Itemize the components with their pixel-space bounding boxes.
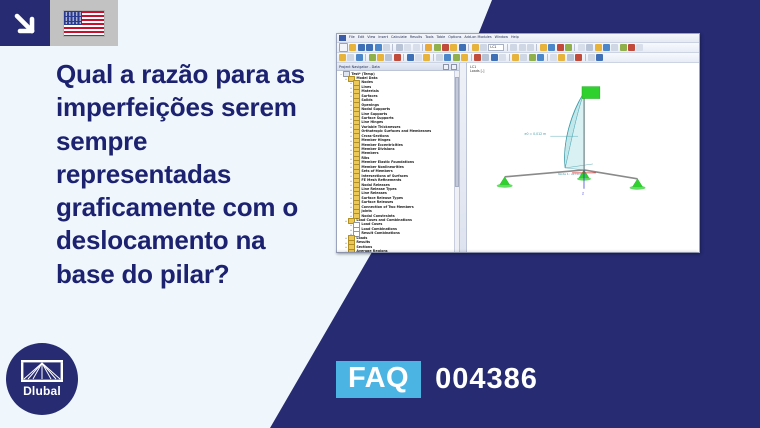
toolbar-snap-icon[interactable]	[480, 44, 487, 51]
toolbar-errors-icon[interactable]	[557, 44, 564, 51]
toolbar2-icon-7[interactable]	[394, 54, 401, 61]
toolbar2-icon-4[interactable]	[369, 54, 376, 61]
toolbar2-icon-22[interactable]	[537, 54, 544, 61]
menu-bar[interactable]: File Edit View Insert Calculate Results …	[337, 34, 699, 43]
toolbar2-icon-23[interactable]	[550, 54, 557, 61]
menu-item-window[interactable]: Window	[495, 36, 508, 39]
toolbar2-icon-2[interactable]	[347, 54, 354, 61]
toolbar2-icon-20[interactable]	[520, 54, 527, 61]
navigator-close-icon[interactable]	[451, 64, 457, 70]
brand-name: Dlubal	[23, 384, 61, 398]
faq-footer: FAQ 004386	[336, 361, 538, 398]
rfem-application-window[interactable]: File Edit View Insert Calculate Results …	[336, 33, 700, 253]
tree-item-list[interactable]: +Model Data+Nodes+Lines+Materials+Surfac…	[338, 76, 459, 253]
toolbar-misc5-icon[interactable]	[611, 44, 618, 51]
tree-item-label: FE Mesh Refinements	[361, 179, 401, 182]
toolbar-view-icon[interactable]	[510, 44, 517, 51]
tree-item-label: Results	[356, 241, 370, 244]
load-case-value: LC1	[489, 45, 503, 50]
toolbar-preview-icon[interactable]	[383, 44, 390, 51]
tree-item-label: Solids	[361, 99, 372, 102]
nodal-support-left	[497, 177, 513, 188]
imperfection-label: e0 = 0.012 m	[525, 132, 547, 136]
load-case-field[interactable]: LC1	[488, 44, 504, 51]
toolbar2-icon-13[interactable]	[453, 54, 460, 61]
toolbar2-icon-14[interactable]	[461, 54, 468, 61]
toolbar-cut-icon[interactable]	[396, 44, 403, 51]
toolbar-calc-icon[interactable]	[540, 44, 547, 51]
toolbar-misc6-icon[interactable]	[620, 44, 627, 51]
toolbar-misc8-icon[interactable]	[636, 44, 643, 51]
navigator-title: Project Navigator - Data	[339, 65, 380, 69]
menu-item-tools[interactable]: Tools	[425, 36, 433, 39]
app-icon	[339, 35, 346, 41]
toolbar-new-icon[interactable]	[339, 43, 348, 52]
toolbar2-icon-24[interactable]	[558, 54, 565, 61]
navigator-scrollbar-thumb[interactable]	[455, 77, 459, 187]
expand-tab[interactable]	[0, 0, 50, 46]
toolbar-results-icon[interactable]	[548, 44, 555, 51]
toolbar-zoom-icon[interactable]	[459, 44, 466, 51]
toolbar-pan-icon[interactable]	[519, 44, 526, 51]
toolbar2-icon-16[interactable]	[482, 54, 489, 61]
toolbar2-icon-9[interactable]	[415, 54, 422, 61]
toolbar2-icon-18[interactable]	[499, 54, 506, 61]
toolbar2-icon-19[interactable]	[512, 54, 519, 61]
toolbar-open-icon[interactable]	[349, 44, 356, 51]
toolbar2-icon-3[interactable]	[356, 54, 363, 61]
toolbar-copy-icon[interactable]	[404, 44, 411, 51]
menu-item-file[interactable]: File	[349, 36, 355, 39]
tree-item-label: Result Combinations	[361, 232, 399, 235]
tree-item-label: Member Hinges	[361, 139, 390, 142]
toolbar-print-icon[interactable]	[375, 44, 382, 51]
structural-model-graphic: e0 = 0.012 m Node 1: ux=0.000	[467, 63, 699, 253]
navigator-scrollbar[interactable]	[454, 71, 459, 253]
toolbar2-icon-11[interactable]	[436, 54, 443, 61]
navigator-title-buttons[interactable]	[443, 64, 457, 70]
toolbar2-icon-8[interactable]	[407, 54, 414, 61]
toolbar-render-icon[interactable]	[450, 44, 457, 51]
navigator-tree[interactable]: − Test* (Temp) +Model Data+Nodes+Lines+M…	[337, 71, 459, 253]
toolbar2-icon-21[interactable]	[529, 54, 536, 61]
tree-item-label: Sets of Members	[361, 170, 392, 173]
menu-item-view[interactable]: View	[367, 36, 375, 39]
toolbar-secondary[interactable]	[337, 53, 699, 63]
toolbar-misc3-icon[interactable]	[595, 44, 602, 51]
toolbar2-icon-27[interactable]	[588, 54, 595, 61]
toolbar-primary[interactable]: LC1	[337, 43, 699, 53]
tree-item-label: Joints	[361, 210, 372, 213]
toolbar2-icon-6[interactable]	[385, 54, 392, 61]
toolbar2-icon-10[interactable]	[423, 54, 430, 61]
menu-item-addon-modules[interactable]: Add-on Modules	[464, 36, 491, 39]
axis-label-z: Z	[582, 192, 584, 196]
toolbar-delete-icon[interactable]	[442, 44, 449, 51]
toolbar-misc2-icon[interactable]	[586, 44, 593, 51]
toolbar2-icon-17[interactable]	[491, 54, 498, 61]
menu-item-edit[interactable]: Edit	[358, 36, 365, 39]
navigator-pin-icon[interactable]	[443, 64, 449, 70]
toolbar2-icon-28[interactable]	[596, 54, 603, 61]
faq-number: 004386	[435, 365, 538, 394]
toolbar2-icon-12[interactable]	[444, 54, 451, 61]
dlubal-truss-icon	[21, 360, 63, 382]
arrow-down-right-icon	[0, 0, 50, 46]
menu-item-help[interactable]: Help	[511, 36, 519, 39]
menu-item-options[interactable]: Options	[448, 36, 461, 39]
toolbar-misc7-icon[interactable]	[628, 44, 635, 51]
toolbar-grid-icon[interactable]	[472, 44, 479, 51]
faq-slide: ★★★★★★★★★★★★★★★★★★★★★★★★★★★★ Qual a razã…	[0, 0, 760, 428]
language-flag-tab[interactable]: ★★★★★★★★★★★★★★★★★★★★★★★★★★★★	[50, 0, 118, 46]
faq-badge: FAQ	[336, 361, 421, 398]
nodal-support-right	[630, 179, 646, 190]
toolbar-redo-icon[interactable]	[434, 44, 441, 51]
toolbar2-icon-26[interactable]	[575, 54, 582, 61]
navigator-title-bar: Project Navigator - Data	[337, 63, 459, 71]
toolbar2-icon-25[interactable]	[567, 54, 574, 61]
toolbar-undo-icon[interactable]	[425, 44, 432, 51]
toolbar-save-icon[interactable]	[358, 44, 365, 51]
workarea-side-strip	[460, 63, 467, 253]
app-body: Project Navigator - Data − Test* (Temp) …	[337, 63, 699, 253]
page-title: Qual a razão para as imperfeições serem …	[56, 58, 324, 291]
menu-item-results[interactable]: Results	[410, 36, 422, 39]
toolbar-check-icon[interactable]	[565, 44, 572, 51]
brand-logo: Dlubal	[6, 343, 78, 415]
us-flag-icon: ★★★★★★★★★★★★★★★★★★★★★★★★★★★★	[63, 10, 105, 37]
tree-item-label: Nodal Supports	[361, 108, 390, 111]
menu-item-calculate[interactable]: Calculate	[391, 36, 407, 39]
menu-item-insert[interactable]: Insert	[378, 36, 388, 39]
toolbar2-icon-5[interactable]	[377, 54, 384, 61]
toolbar-rotate-icon[interactable]	[527, 44, 534, 51]
toolbar-paste-icon[interactable]	[413, 44, 420, 51]
nodal-load-marker	[582, 87, 600, 99]
toolbar2-icon-15[interactable]	[474, 54, 481, 61]
toolbar-misc4-icon[interactable]	[603, 44, 610, 51]
toolbar-saveas-icon[interactable]	[366, 44, 373, 51]
toolbar-misc1-icon[interactable]	[578, 44, 585, 51]
menu-item-table[interactable]: Table	[437, 36, 446, 39]
window-shadow	[336, 251, 698, 254]
toolbar2-icon-1[interactable]	[339, 54, 346, 61]
project-navigator-panel[interactable]: Project Navigator - Data − Test* (Temp) …	[337, 63, 460, 253]
model-work-area[interactable]: LC1 Loads [-]	[467, 63, 699, 253]
